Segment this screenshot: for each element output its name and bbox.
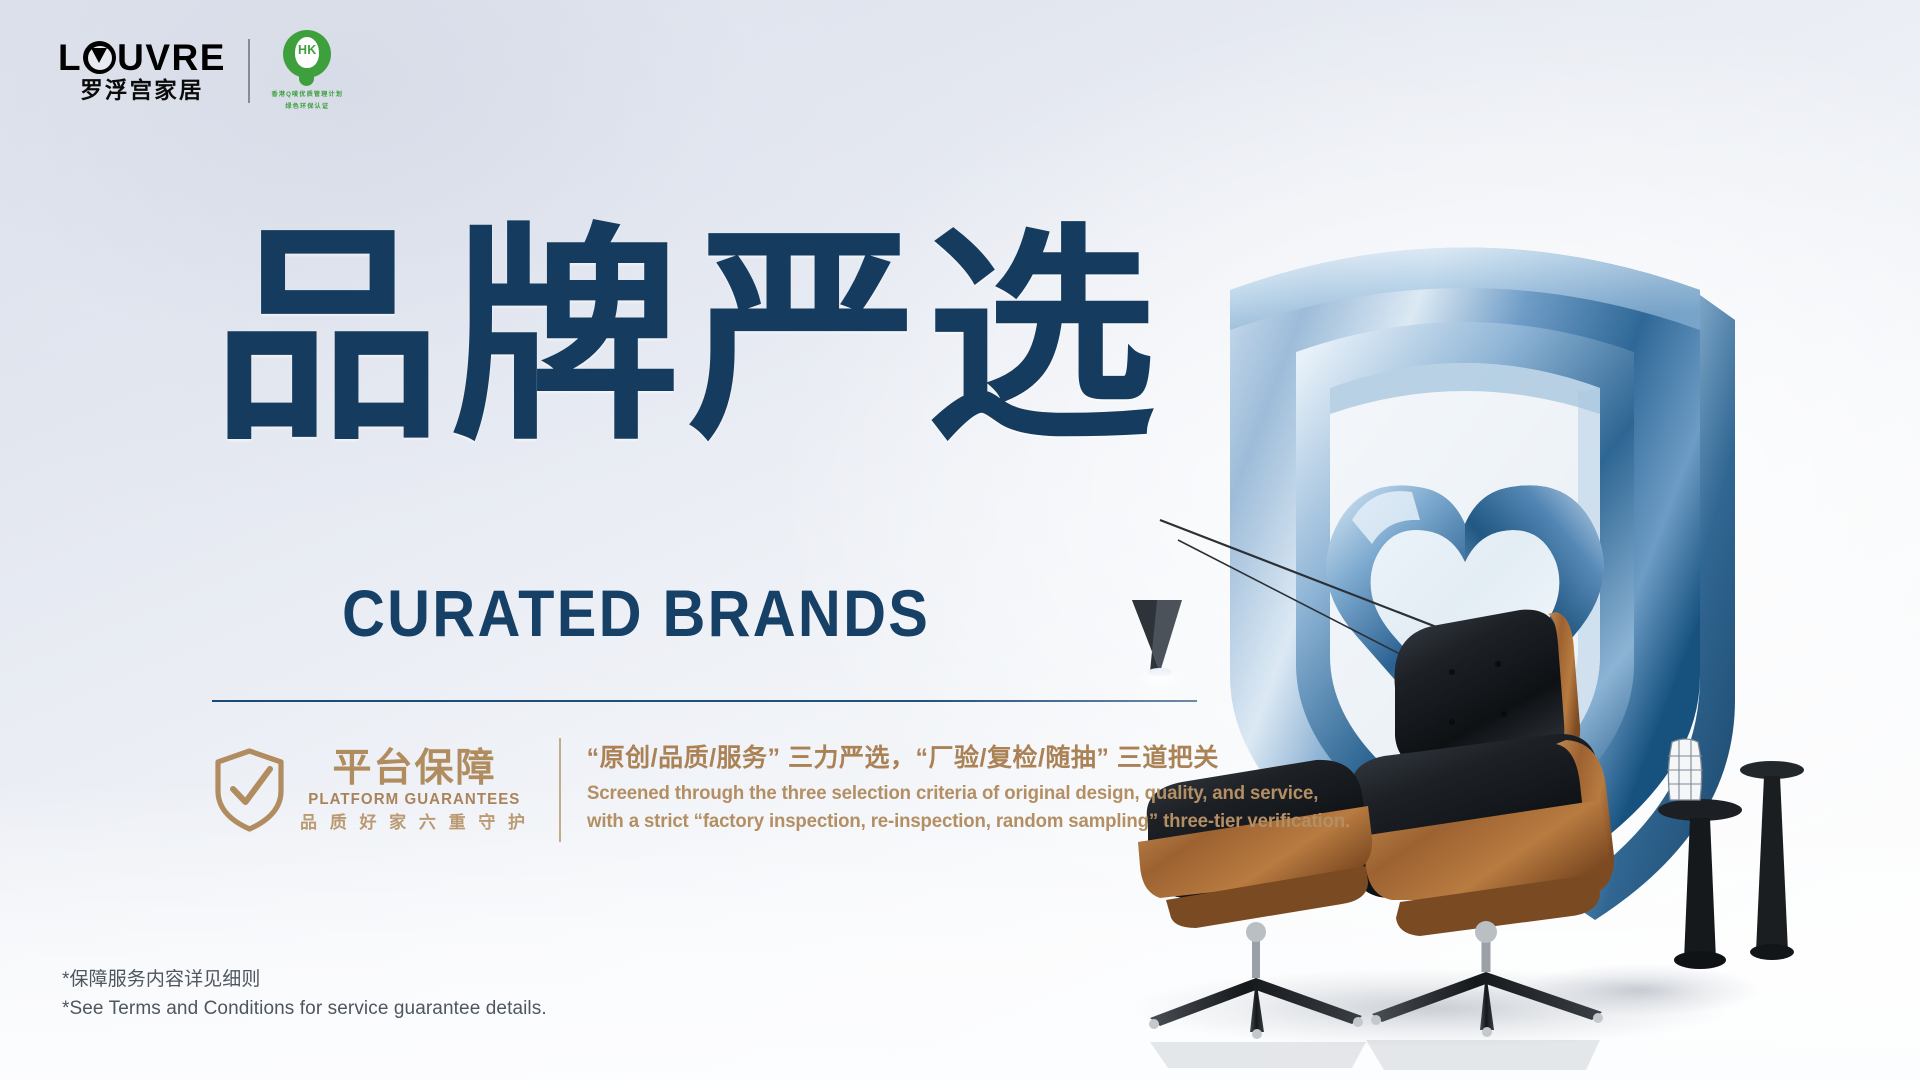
certification-caption-line2: 绿色环保认证: [285, 103, 329, 112]
section-divider: [212, 700, 1197, 702]
platform-guarantee-subtitle: 品 质 好 家 六 重 守 护: [300, 814, 529, 831]
footer-disclaimer: *保障服务内容详见细则 *See Terms and Conditions fo…: [62, 965, 547, 1024]
platform-guarantee-texts: 平台保障 PLATFORM GUARANTEES 品 质 好 家 六 重 守 护: [300, 749, 529, 831]
vase-icon: [1667, 739, 1703, 800]
platform-guarantee-title-en: PLATFORM GUARANTEES: [308, 792, 520, 808]
guarantee-copy-english-line2: with a strict “factory inspection, re-in…: [587, 808, 1350, 836]
louvre-wordmark-suffix: UVRE: [117, 39, 226, 76]
guarantee-copy-english-line1: Screened through the three selection cri…: [587, 780, 1350, 808]
platform-guarantee-title-cn: 平台保障: [333, 749, 497, 790]
guarantee-copy-chinese: “原创/品质/服务” 三力严选，“厂验/复检/随抽” 三道把关: [587, 744, 1386, 773]
guarantee-copy: “原创/品质/服务” 三力严选，“厂验/复检/随抽” 三道把关 Screened…: [587, 744, 1386, 835]
certification-badge: HK 香港Q唛优质管理计划 绿色环保认证: [272, 30, 344, 112]
guarantee-section: 平台保障 PLATFORM GUARANTEES 品 质 好 家 六 重 守 护…: [212, 738, 1386, 842]
side-table-icon: [1658, 761, 1804, 969]
hk-letters: HK: [282, 44, 332, 57]
headline-chinese: 品牌严选: [212, 222, 1164, 457]
platform-guarantee-badge: 平台保障 PLATFORM GUARANTEES 品 质 好 家 六 重 守 护: [212, 747, 529, 833]
certification-caption-line1: 香港Q唛优质管理计划: [272, 91, 344, 100]
louvre-wordmark-prefix: L: [58, 39, 82, 76]
headline-english: CURATED BRANDS: [342, 580, 930, 646]
guarantee-vertical-divider: [559, 738, 561, 842]
louvre-o-glyph-icon: [83, 41, 116, 74]
louvre-lockup: L UVRE 罗浮宫家居: [58, 39, 226, 103]
promo-banner: L UVRE 罗浮宫家居 HK 香港Q唛优质管理计划 绿色环保认证 品牌严选 C…: [0, 0, 1920, 1080]
shield-check-icon: [212, 747, 287, 833]
hk-q-green-icon: HK: [282, 30, 332, 88]
logo-divider: [248, 39, 250, 103]
heart-emblem: [1326, 485, 1604, 760]
louvre-chinese-name: 罗浮宫家居: [80, 80, 204, 103]
pendant-lamp-icon: [1132, 520, 1470, 692]
guarantee-copy-english: Screened through the three selection cri…: [587, 780, 1386, 835]
louvre-wordmark: L UVRE: [58, 39, 226, 76]
brand-logo-lockup[interactable]: L UVRE 罗浮宫家居 HK 香港Q唛优质管理计划 绿色环保认证: [58, 30, 343, 112]
hero-artwork: [1000, 0, 1920, 1080]
